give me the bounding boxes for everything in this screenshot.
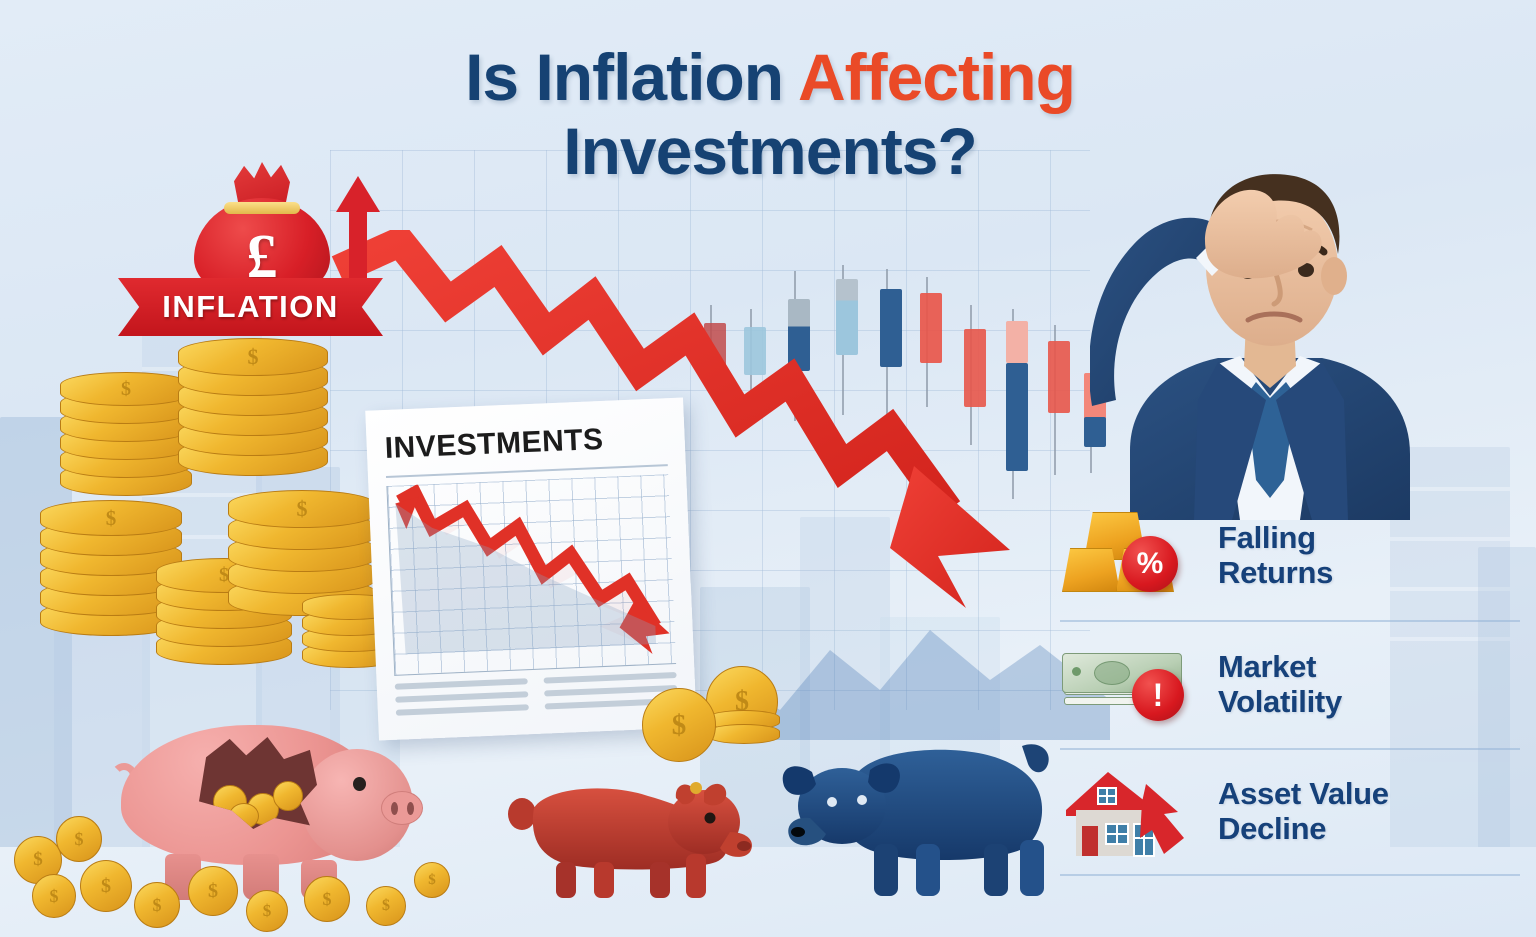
alert-badge: !	[1132, 669, 1184, 721]
document-coins: $ $	[636, 662, 816, 772]
document-text-line	[395, 678, 528, 690]
worried-businessman	[1090, 150, 1450, 520]
title-line-2: Investments?	[330, 118, 1210, 184]
label-line-1: Asset Value	[1218, 776, 1389, 811]
bill-portrait	[1094, 661, 1130, 685]
house-down-arrow-icon	[1060, 762, 1200, 862]
gold-bars-percent-icon: %	[1060, 506, 1200, 606]
list-item-label: Falling Returns	[1218, 521, 1333, 590]
label-line-2: Returns	[1218, 555, 1333, 590]
label-line-1: Market	[1218, 649, 1316, 684]
title-part-1: Is Inflation	[465, 40, 798, 114]
label-line-1: Falling	[1218, 520, 1316, 555]
cash-stack-alert-icon: !	[1060, 635, 1200, 735]
list-item[interactable]: % Falling Returns	[1060, 492, 1520, 620]
list-item[interactable]: ! Market Volatility	[1060, 620, 1520, 748]
bear-figure	[498, 770, 758, 900]
document-chart	[386, 474, 676, 676]
coin-stacks: $ $ $	[40, 330, 390, 750]
page-title: Is Inflation Affecting Investments?	[330, 44, 1210, 184]
document-chart-arrow	[387, 474, 676, 675]
inflation-banner: INFLATION	[118, 278, 383, 336]
document-heading: INVESTMENTS	[384, 420, 667, 466]
inflation-label: INFLATION	[162, 289, 339, 325]
infographic-canvas: £ INFLATION Is Inflation Affecting Inves…	[0, 0, 1536, 937]
list-item-label: Market Volatility	[1218, 650, 1342, 719]
list-item-label: Asset Value Decline	[1218, 777, 1389, 846]
impacts-list: % Falling Returns ! Market Volatility	[1060, 492, 1520, 876]
bill-seal	[1072, 667, 1081, 676]
title-part-2: Affecting	[798, 40, 1075, 114]
up-arrow-icon	[336, 176, 380, 286]
percent-badge: %	[1122, 536, 1178, 592]
list-item[interactable]: Asset Value Decline	[1060, 748, 1520, 876]
label-line-2: Decline	[1218, 811, 1326, 846]
label-line-2: Volatility	[1218, 684, 1342, 719]
document-text-line	[395, 691, 528, 703]
scattered-coins: $ $ $ $ $ $ $ $ $ $	[10, 810, 450, 930]
